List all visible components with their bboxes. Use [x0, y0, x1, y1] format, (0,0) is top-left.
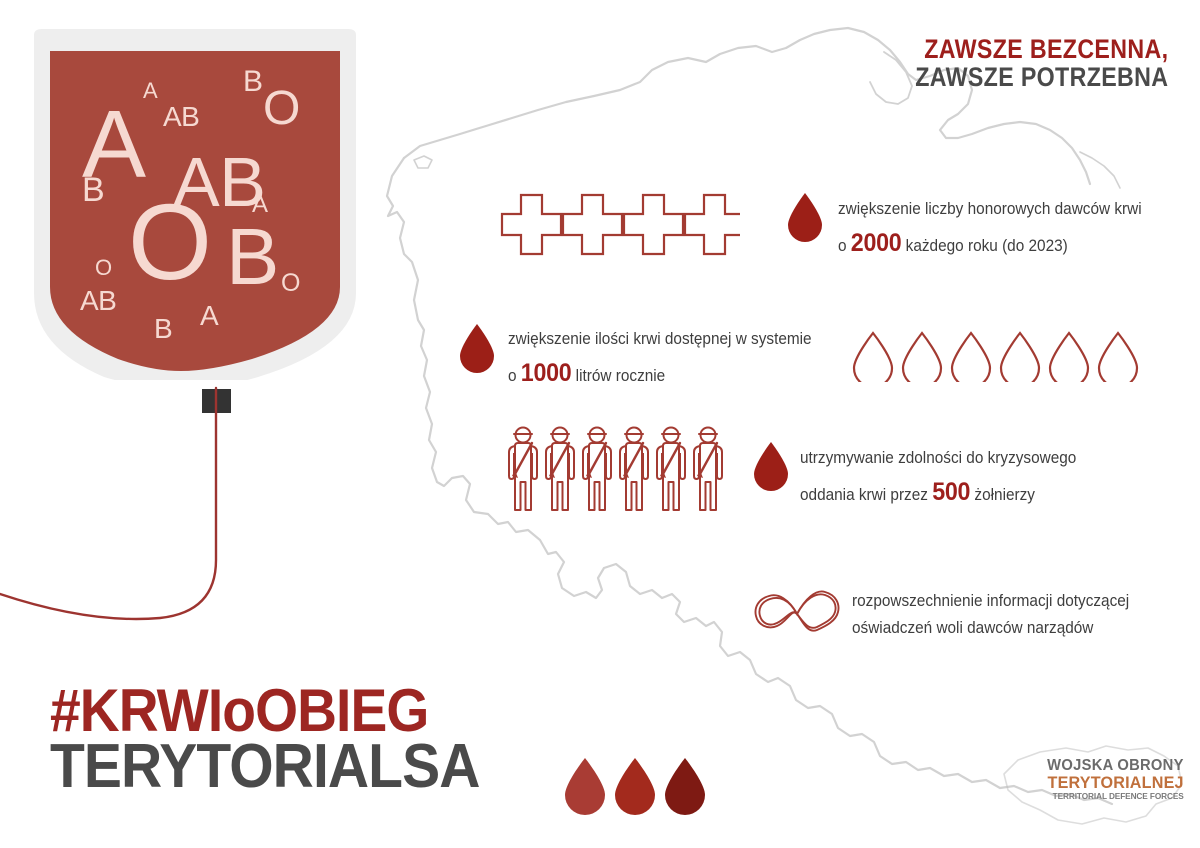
fact-volume-text: zwiększenie ilości krwi dostępnej w syst…: [508, 326, 812, 393]
blood-drop-dark: [665, 758, 705, 815]
fact-organ-donation-line-2: oświadczeń woli dawców narządów: [852, 615, 1129, 642]
fact-soldiers-line-1: utrzymywanie zdolności do kryzysowego: [800, 445, 1076, 472]
fact-donors-line-2: o 2000 każdego roku (do 2023): [838, 223, 1142, 264]
campaign-hashtag: #KRWIoOBIEG TERYTORIALSA: [50, 683, 517, 795]
soldier-icon-row: [506, 424, 728, 516]
fact-volume-number: 1000: [521, 359, 572, 387]
headline: ZAWSZE BEZCENNA, ZAWSZE POTRZEBNA: [874, 36, 1168, 91]
headline-line-1: ZAWSZE BEZCENNA,: [915, 36, 1168, 64]
blood-type-letter: AB: [163, 103, 199, 131]
blood-drop-light: [565, 758, 605, 815]
hashtag-line-2: TERYTORIALSA: [50, 738, 479, 795]
fact-volume-line-1: zwiększenie ilości krwi dostępnej w syst…: [508, 326, 812, 353]
blood-bag: A AB B O A AB B A O B O O AB A B: [30, 25, 360, 385]
blood-type-letter: O: [281, 271, 300, 296]
drop-outline-row: [852, 324, 1140, 382]
cross-icon-row: [500, 190, 740, 260]
blood-drop-trio: [562, 754, 708, 818]
fact-donors-number: 2000: [851, 229, 902, 257]
fact-soldiers-number: 500: [932, 478, 970, 506]
fact-donors-line-1: zwiększenie liczby honorowych dawców krw…: [838, 196, 1142, 223]
blood-drop-icon: [786, 191, 824, 243]
blood-type-letter-cloud: A AB B O A AB B A O B O O AB A B: [30, 25, 360, 380]
blood-type-letter: A: [200, 302, 218, 330]
blood-type-letter: AB: [80, 287, 116, 315]
blood-type-letter: O: [128, 188, 212, 296]
fact-organ-donation-line-1: rozpowszechnienie informacji dotyczącej: [852, 588, 1129, 615]
fact-organ-donation-text: rozpowszechnienie informacji dotyczącej …: [852, 588, 1129, 641]
blood-type-letter: B: [154, 315, 172, 343]
hashtag-line-1: #KRWIoOBIEG: [50, 683, 479, 738]
wot-logo-line-1: WOJSKA OBRONY: [1047, 758, 1184, 774]
fact-soldiers-text: utrzymywanie zdolności do kryzysowego od…: [800, 445, 1076, 512]
blood-bag-port: [202, 389, 231, 413]
infographic-canvas: A AB B O A AB B A O B O O AB A B ZAWSZE …: [0, 0, 1200, 848]
wot-logo-line-2: TERYTORIALNEJ: [1047, 774, 1184, 791]
blood-type-letter: B: [226, 217, 279, 297]
wot-logo-line-3: TERRITORIAL DEFENCE FORCES: [1046, 792, 1184, 801]
blood-drop-icon: [458, 322, 496, 374]
blood-drop-medium: [615, 758, 655, 815]
fact-donors-text: zwiększenie liczby honorowych dawców krw…: [838, 196, 1142, 263]
blood-type-letter: O: [95, 257, 112, 279]
fact-soldiers-line-2: oddania krwi przez 500 żołnierzy: [800, 472, 1076, 513]
infinity-icon: [748, 586, 846, 642]
blood-type-letter: B: [243, 67, 263, 97]
wot-logo-text: WOJSKA OBRONY TERYTORIALNEJ TERRITORIAL …: [1040, 758, 1184, 800]
headline-line-2: ZAWSZE POTRZEBNA: [915, 64, 1168, 92]
blood-type-letter: B: [82, 173, 104, 207]
blood-drop-icon: [752, 440, 790, 492]
wot-logo: WOJSKA OBRONY TERYTORIALNEJ TERRITORIAL …: [996, 740, 1186, 830]
fact-volume-line-2: o 1000 litrów rocznie: [508, 353, 812, 394]
blood-type-letter: O: [263, 85, 300, 133]
